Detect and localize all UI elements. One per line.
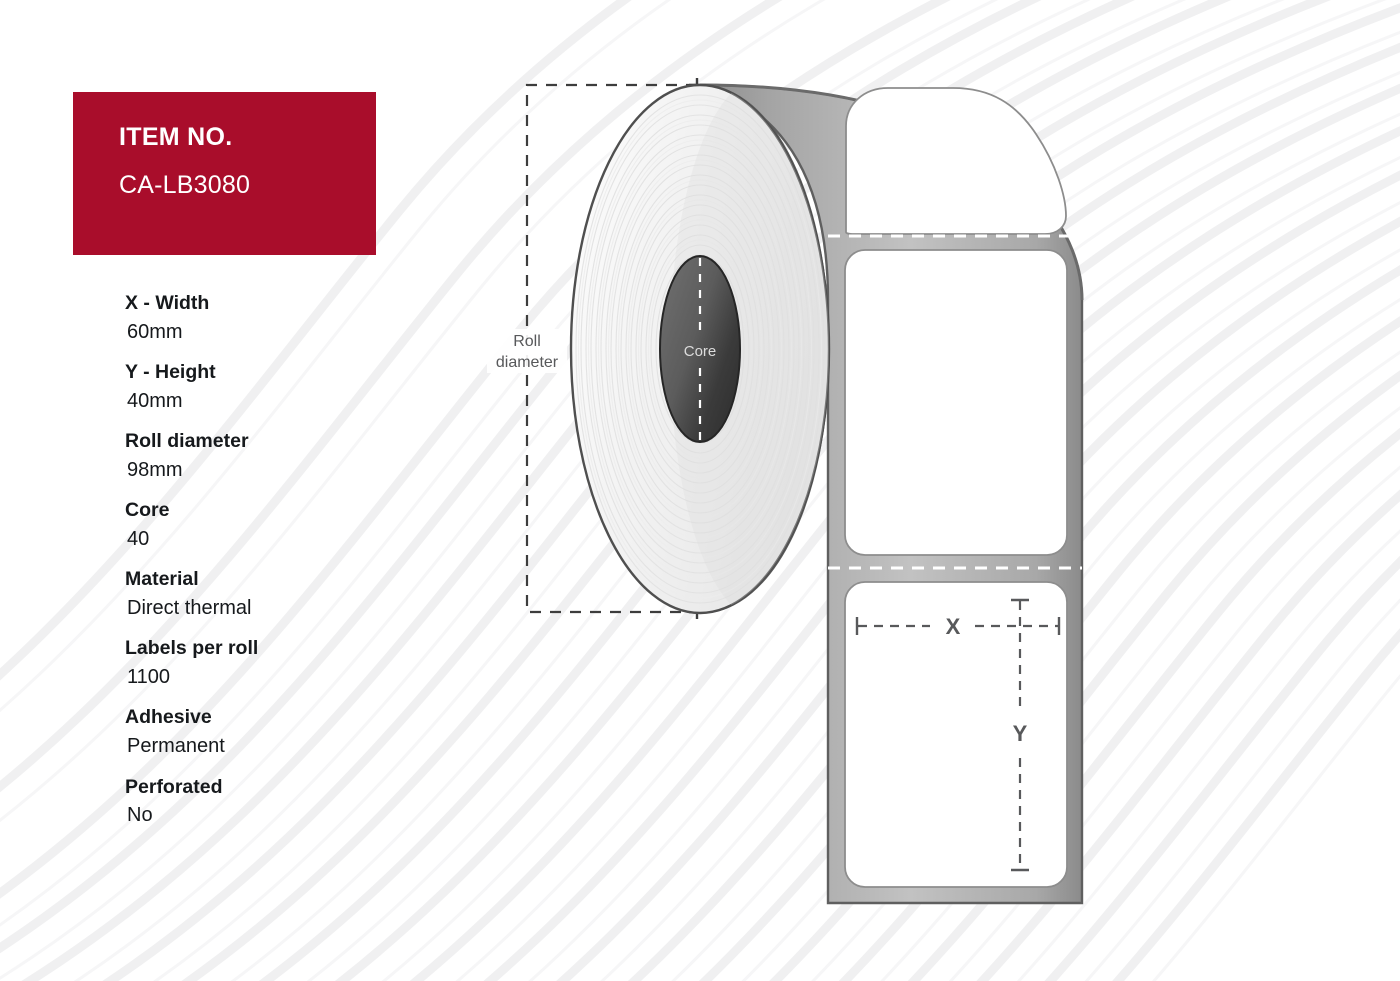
core-label: Core [684,343,717,360]
x-dimension-label: X [946,614,961,639]
label-face-top [846,88,1066,234]
y-dimension-label: Y [1013,721,1028,746]
roll-diameter-label-line2-fg: diameter [496,354,559,371]
label-face-bottom: X Y [845,582,1067,887]
spec-sheet-page: ITEM NO. CA-LB3080 X - Width 60mm Y - He… [0,0,1400,981]
label-roll-illustration: Roll diameter Roll diameter [0,0,1400,981]
label-face-middle [845,250,1067,555]
roll-diameter-label-line1-fg: Roll [513,333,541,350]
roll-core: Core [660,256,740,442]
